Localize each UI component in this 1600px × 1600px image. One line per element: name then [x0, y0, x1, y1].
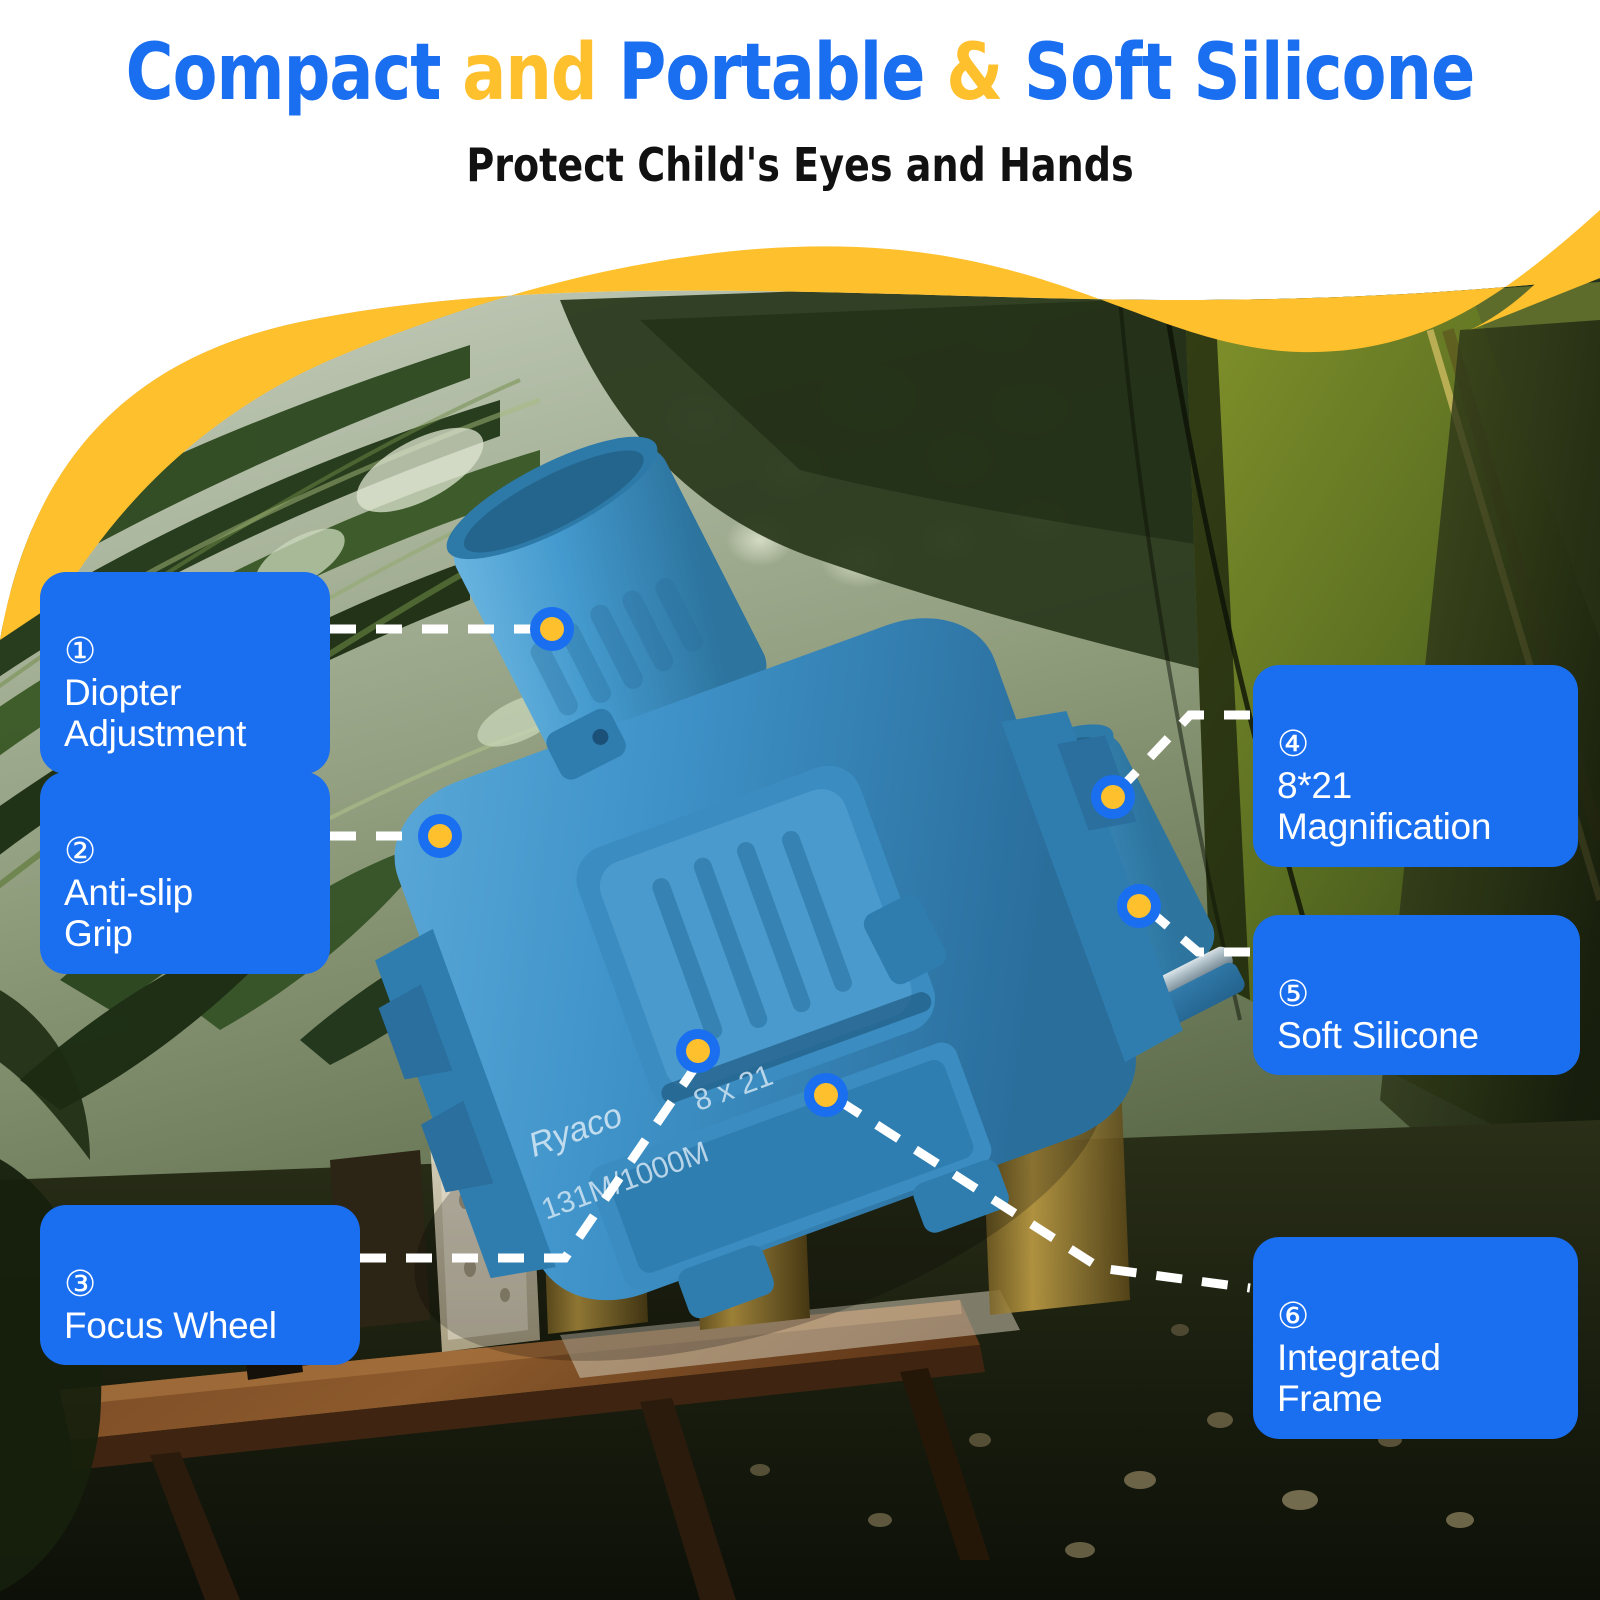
callout-number-4: ④ [1277, 723, 1309, 764]
callout-label-anti-slip-grip[interactable]: ② Anti-slip Grip [40, 772, 330, 974]
callout-number-2: ② [64, 830, 96, 871]
callout-number-5: ⑤ [1277, 973, 1309, 1014]
page-subtitle: Protect Child's Eyes and Hands [64, 138, 1536, 192]
title-part-2: and [462, 28, 618, 118]
callout-text-1: Diopter Adjustment [64, 672, 246, 754]
callout-text-2: Anti-slip Grip [64, 872, 193, 954]
callout-label-magnification[interactable]: ④ 8*21 Magnification [1253, 665, 1578, 867]
callout-number-3: ③ [64, 1263, 96, 1304]
title-part-4: & [946, 28, 1024, 118]
callout-text-3: Focus Wheel [64, 1305, 277, 1346]
callout-text-4: 8*21 Magnification [1277, 765, 1491, 847]
title-part-5: Soft Silicone [1024, 28, 1474, 118]
page-title: Compact and Portable & Soft Silicone [56, 34, 1544, 112]
callout-label-diopter-adjustment[interactable]: ① Diopter Adjustment [40, 572, 330, 774]
callout-label-focus-wheel[interactable]: ③ Focus Wheel [40, 1205, 360, 1365]
title-part-1: Compact [126, 28, 463, 118]
callout-text-5: Soft Silicone [1277, 1015, 1479, 1056]
callout-number-1: ① [64, 630, 96, 671]
callout-text-6: Integrated Frame [1277, 1337, 1441, 1419]
callout-label-soft-silicone[interactable]: ⑤ Soft Silicone [1253, 915, 1580, 1075]
callout-number-6: ⑥ [1277, 1295, 1309, 1336]
callout-label-integrated-frame[interactable]: ⑥ Integrated Frame [1253, 1237, 1578, 1439]
infographic-canvas: Ryaco 8 x 21 131M/1000M [0, 0, 1600, 1600]
header: Compact and Portable & Soft Silicone Pro… [0, 0, 1600, 210]
title-part-3: Portable [618, 28, 946, 118]
